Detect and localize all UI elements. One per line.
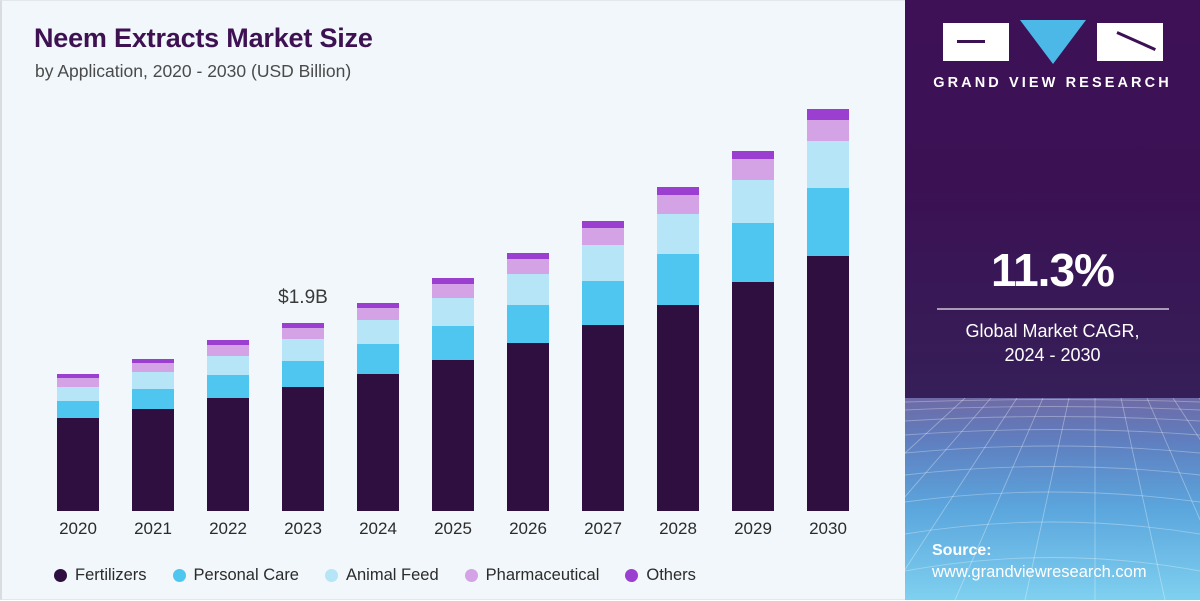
- legend-swatch-icon: [625, 569, 638, 582]
- plot-area: 2020202120222023202420252026202720282029…: [2, 1, 907, 601]
- bar-2028[interactable]: [657, 187, 699, 511]
- bar-segment-fertilizers[interactable]: [57, 418, 99, 511]
- legend-swatch-icon: [173, 569, 186, 582]
- bar-segment-animal-feed[interactable]: [732, 180, 774, 222]
- logo-r-mark-icon: [1097, 23, 1163, 61]
- bar-segment-animal-feed[interactable]: [807, 141, 849, 188]
- bar-segment-pharmaceutical[interactable]: [432, 284, 474, 298]
- legend-label: Pharmaceutical: [486, 566, 600, 585]
- bar-segment-personal-care[interactable]: [132, 389, 174, 409]
- bar-segment-pharmaceutical[interactable]: [582, 228, 624, 245]
- legend-swatch-icon: [325, 569, 338, 582]
- bar-segment-animal-feed[interactable]: [507, 274, 549, 305]
- source-block: Source: www.grandviewresearch.com: [932, 542, 1147, 582]
- logo-g-mark-icon: [943, 23, 1009, 61]
- x-axis-label-2030: 2030: [807, 519, 849, 539]
- bar-segment-fertilizers[interactable]: [207, 398, 249, 511]
- bar-2024[interactable]: [357, 303, 399, 511]
- bar-segment-fertilizers[interactable]: [357, 374, 399, 511]
- bar-segment-pharmaceutical[interactable]: [207, 345, 249, 356]
- x-axis-label-2025: 2025: [432, 519, 474, 539]
- bar-segment-animal-feed[interactable]: [432, 298, 474, 326]
- legend-label: Others: [646, 566, 696, 585]
- bar-segment-animal-feed[interactable]: [282, 339, 324, 360]
- bar-segment-fertilizers[interactable]: [732, 282, 774, 511]
- cagr-label: Global Market CAGR, 2024 - 2030: [965, 319, 1139, 369]
- x-axis-label-2024: 2024: [357, 519, 399, 539]
- bar-segment-pharmaceutical[interactable]: [57, 378, 99, 387]
- legend-label: Fertilizers: [75, 566, 147, 585]
- bar-segment-animal-feed[interactable]: [57, 387, 99, 401]
- bar-2023[interactable]: [282, 323, 324, 511]
- logo-v-triangle-icon: [1020, 20, 1086, 64]
- legend-swatch-icon: [465, 569, 478, 582]
- bar-segment-personal-care[interactable]: [357, 344, 399, 374]
- bar-2030[interactable]: [807, 109, 849, 511]
- legend-item-fertilizers[interactable]: Fertilizers: [54, 566, 147, 585]
- bar-segment-fertilizers[interactable]: [657, 305, 699, 511]
- legend-label: Animal Feed: [346, 566, 439, 585]
- bar-segment-animal-feed[interactable]: [357, 320, 399, 344]
- logo-wordmark: GRAND VIEW RESEARCH: [933, 75, 1172, 91]
- bar-segment-personal-care[interactable]: [282, 361, 324, 387]
- legend-item-personal-care[interactable]: Personal Care: [173, 566, 299, 585]
- bar-segment-personal-care[interactable]: [807, 188, 849, 255]
- data-callout-2023: $1.9B: [243, 287, 363, 309]
- cagr-block: 11.3% Global Market CAGR, 2024 - 2030: [905, 243, 1200, 368]
- bar-segment-pharmaceutical[interactable]: [507, 259, 549, 274]
- bar-segment-others[interactable]: [807, 109, 849, 120]
- legend-label: Personal Care: [194, 566, 299, 585]
- bar-segment-personal-care[interactable]: [657, 254, 699, 305]
- x-axis-label-2021: 2021: [132, 519, 174, 539]
- bar-segment-others[interactable]: [582, 221, 624, 228]
- bar-2029[interactable]: [732, 151, 774, 511]
- brand-panel: GRAND VIEW RESEARCH 11.3% Global Market …: [905, 0, 1200, 600]
- bar-segment-pharmaceutical[interactable]: [282, 328, 324, 340]
- bar-segment-fertilizers[interactable]: [432, 360, 474, 511]
- bar-segment-animal-feed[interactable]: [132, 372, 174, 388]
- bar-segment-fertilizers[interactable]: [807, 256, 849, 511]
- bar-segment-animal-feed[interactable]: [207, 356, 249, 375]
- legend-item-others[interactable]: Others: [625, 566, 696, 585]
- bar-segment-animal-feed[interactable]: [657, 214, 699, 254]
- bar-segment-pharmaceutical[interactable]: [732, 159, 774, 180]
- bar-segment-pharmaceutical[interactable]: [657, 195, 699, 214]
- bar-segment-personal-care[interactable]: [507, 305, 549, 344]
- bar-segment-pharmaceutical[interactable]: [132, 363, 174, 373]
- bar-segment-fertilizers[interactable]: [132, 409, 174, 511]
- bar-segment-personal-care[interactable]: [582, 281, 624, 325]
- bar-2025[interactable]: [432, 278, 474, 511]
- bar-2026[interactable]: [507, 253, 549, 511]
- bar-segment-pharmaceutical[interactable]: [357, 308, 399, 321]
- legend-item-animal-feed[interactable]: Animal Feed: [325, 566, 439, 585]
- source-url[interactable]: www.grandviewresearch.com: [932, 563, 1147, 582]
- bar-2021[interactable]: [132, 359, 174, 511]
- x-axis-label-2029: 2029: [732, 519, 774, 539]
- bar-segment-others[interactable]: [657, 187, 699, 195]
- cagr-label-line2: 2024 - 2030: [1004, 345, 1100, 365]
- bar-segment-fertilizers[interactable]: [582, 325, 624, 511]
- legend-swatch-icon: [54, 569, 67, 582]
- cagr-value: 11.3%: [991, 243, 1114, 297]
- cagr-divider: [937, 308, 1169, 310]
- infographic-root: Neem Extracts Market Size by Application…: [0, 0, 1200, 600]
- bar-2020[interactable]: [57, 374, 99, 511]
- source-title: Source:: [932, 542, 1147, 560]
- x-axis-label-2026: 2026: [507, 519, 549, 539]
- chart-legend: FertilizersPersonal CareAnimal FeedPharm…: [54, 566, 696, 585]
- bar-segment-others[interactable]: [732, 151, 774, 160]
- bar-2022[interactable]: [207, 340, 249, 511]
- x-axis-label-2027: 2027: [582, 519, 624, 539]
- cagr-label-line1: Global Market CAGR,: [965, 321, 1139, 341]
- legend-item-pharmaceutical[interactable]: Pharmaceutical: [465, 566, 600, 585]
- bar-segment-fertilizers[interactable]: [282, 387, 324, 511]
- brand-logo: GRAND VIEW RESEARCH: [905, 20, 1200, 91]
- x-axis-label-2023: 2023: [282, 519, 324, 539]
- bar-2027[interactable]: [582, 221, 624, 511]
- bar-segment-personal-care[interactable]: [732, 223, 774, 282]
- bar-segment-animal-feed[interactable]: [582, 245, 624, 281]
- x-axis-label-2020: 2020: [57, 519, 99, 539]
- bar-segment-personal-care[interactable]: [432, 326, 474, 360]
- chart-panel: Neem Extracts Market Size by Application…: [0, 0, 905, 600]
- logo-marks: [943, 20, 1163, 64]
- bar-segment-pharmaceutical[interactable]: [807, 120, 849, 141]
- bar-segment-personal-care[interactable]: [207, 375, 249, 398]
- x-axis-label-2022: 2022: [207, 519, 249, 539]
- bar-segment-personal-care[interactable]: [57, 401, 99, 418]
- x-axis-label-2028: 2028: [657, 519, 699, 539]
- bar-segment-fertilizers[interactable]: [507, 343, 549, 511]
